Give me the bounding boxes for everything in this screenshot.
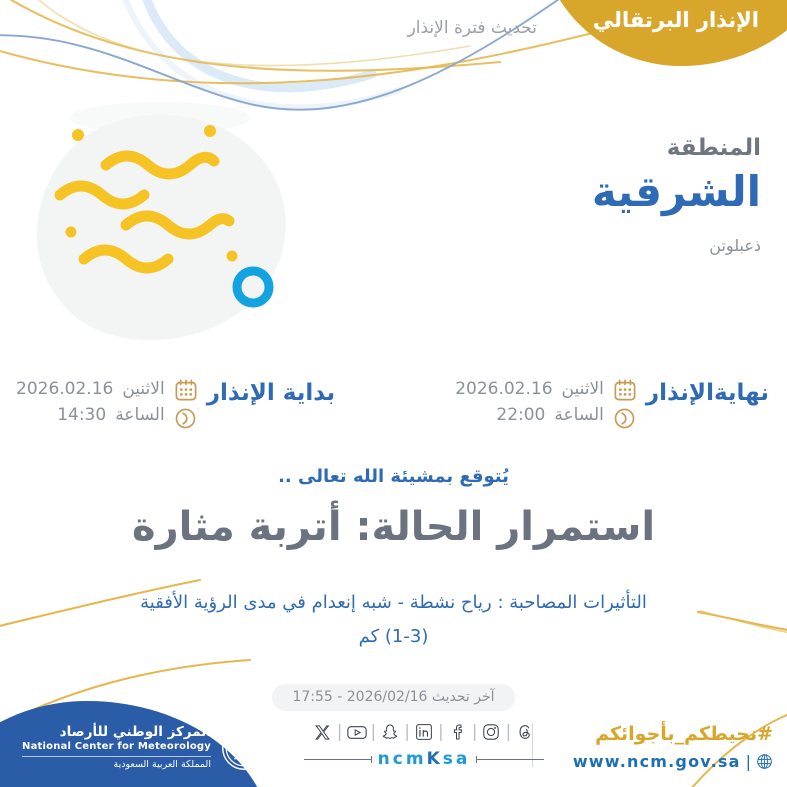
alert-level-label: الإنذار البرتقالي — [593, 8, 759, 32]
alert-start-values: الاثنين 2026.02.16 الساعة 14:30 — [16, 374, 165, 425]
alert-start-title: بداية الإنذار — [207, 374, 335, 406]
footer-org-arabic: المركز الوطني للأرصاد — [22, 724, 211, 741]
dust-haze-icon — [24, 104, 324, 354]
alert-end-title: نهايةالإنذار — [646, 374, 769, 406]
alert-end-time: 22:00 — [496, 405, 545, 425]
handle-suffix: sa — [443, 749, 471, 769]
x-twitter-icon[interactable] — [310, 720, 336, 744]
alert-start-time-label: الساعة — [115, 405, 165, 425]
impacts-block: التأثيرات المصاحبة : رياح نشطة - شبه إنع… — [0, 586, 787, 654]
social-separator: | — [370, 724, 378, 741]
region-kicker: المنطقة — [431, 134, 761, 164]
alert-end-time-label: الساعة — [554, 405, 604, 425]
clock-icon — [174, 407, 197, 430]
alert-start-time: 14:30 — [57, 405, 106, 425]
handle-mid: K — [427, 749, 443, 769]
alert-start-window: بداية الإنذار — [16, 374, 335, 430]
alert-start-day: الاثنين — [122, 379, 164, 399]
alert-end-date-row: الاثنين 2026.02.16 — [455, 379, 604, 399]
alert-end-values: الاثنين 2026.02.16 الساعة 22:00 — [455, 374, 604, 425]
alert-start-date: 2026.02.16 — [16, 379, 113, 399]
footer-social-block: | | | | | | — [304, 720, 544, 769]
social-separator: | — [437, 724, 445, 741]
snapchat-icon[interactable] — [377, 720, 403, 744]
social-separator: | — [471, 724, 479, 741]
alert-end-window: نهايةالإنذار — [455, 374, 769, 430]
facebook-icon[interactable] — [445, 720, 471, 744]
region-name: الشرقية — [431, 166, 761, 219]
alert-window-row: نهايةالإنذار — [0, 374, 787, 430]
website-row[interactable]: | www.ncm.gov.sa — [573, 752, 773, 771]
instagram-icon[interactable] — [478, 720, 504, 744]
impacts-line-1: التأثيرات المصاحبة : رياح نشطة - شبه إنع… — [70, 586, 717, 620]
calendar-icon — [613, 378, 637, 402]
last-update-text: آخر تحديث 2026/02/16 - 17:55 — [272, 684, 514, 711]
footer-logo-divider — [22, 756, 211, 757]
globe-icon — [756, 753, 773, 770]
footer-country-arabic: المملكة العربية السعودية — [22, 759, 211, 771]
youtube-icon[interactable] — [344, 720, 370, 744]
social-icon-row: | | | | | | — [310, 720, 538, 744]
alert-start-icons — [174, 374, 198, 430]
footer-brand-block: #نحيطكم_بأجوائكم | www.ncm.gov.sa — [573, 721, 773, 771]
website-url[interactable]: www.ncm.gov.sa — [573, 752, 741, 771]
handle-line-right — [476, 759, 544, 760]
footer-org-english: National Center for Meteorology — [22, 741, 211, 754]
forecast-headline: استمرار الحالة: أتربة مثارة — [0, 501, 787, 553]
campaign-hashtag: #نحيطكم_بأجوائكم — [573, 721, 773, 749]
website-separator: | — [746, 752, 751, 771]
calendar-icon — [174, 378, 198, 402]
alert-start-time-row: الساعة 14:30 — [16, 405, 165, 425]
social-handle-row: ncmKsa — [304, 749, 544, 769]
social-separator: | — [504, 724, 512, 741]
threads-icon[interactable] — [512, 720, 538, 744]
alert-end-time-row: الساعة 22:00 — [455, 405, 604, 425]
alert-start-date-row: الاثنين 2026.02.16 — [16, 379, 165, 399]
alert-end-date: 2026.02.16 — [455, 379, 552, 399]
impacts-line-2: (1-3) كم — [70, 620, 717, 654]
dust-haze-illustration — [24, 104, 324, 354]
region-subtitle: ذعبلوتن — [431, 236, 761, 257]
linkedin-icon[interactable] — [411, 720, 437, 744]
region-block: المنطقة الشرقية ذعبلوتن — [431, 134, 761, 257]
social-handle: ncmKsa — [378, 749, 471, 769]
update-period-label: تحديث فترة الإنذار — [408, 18, 537, 38]
social-separator: | — [336, 724, 344, 741]
last-update-pill: آخر تحديث 2026/02/16 - 17:55 — [0, 684, 787, 711]
footer-organization-logo: المركز الوطني للأرصاد National Center fo… — [22, 724, 267, 771]
footer-logo-text: المركز الوطني للأرصاد National Center fo… — [22, 724, 211, 771]
handle-prefix: ncm — [378, 749, 427, 769]
forecast-block: يُتوقع بمشيئة الله تعالى .. استمرار الحا… — [0, 466, 787, 553]
handle-line-left — [304, 759, 372, 760]
saudi-emblem-icon — [221, 725, 267, 771]
weather-alert-poster: الإنذار البرتقالي تحديث فترة الإنذار الم… — [0, 0, 787, 787]
alert-end-day: الاثنين — [562, 379, 604, 399]
clock-icon — [613, 407, 636, 430]
forecast-lead: يُتوقع بمشيئة الله تعالى .. — [0, 466, 787, 487]
alert-end-icons — [613, 374, 637, 430]
social-separator: | — [403, 724, 411, 741]
